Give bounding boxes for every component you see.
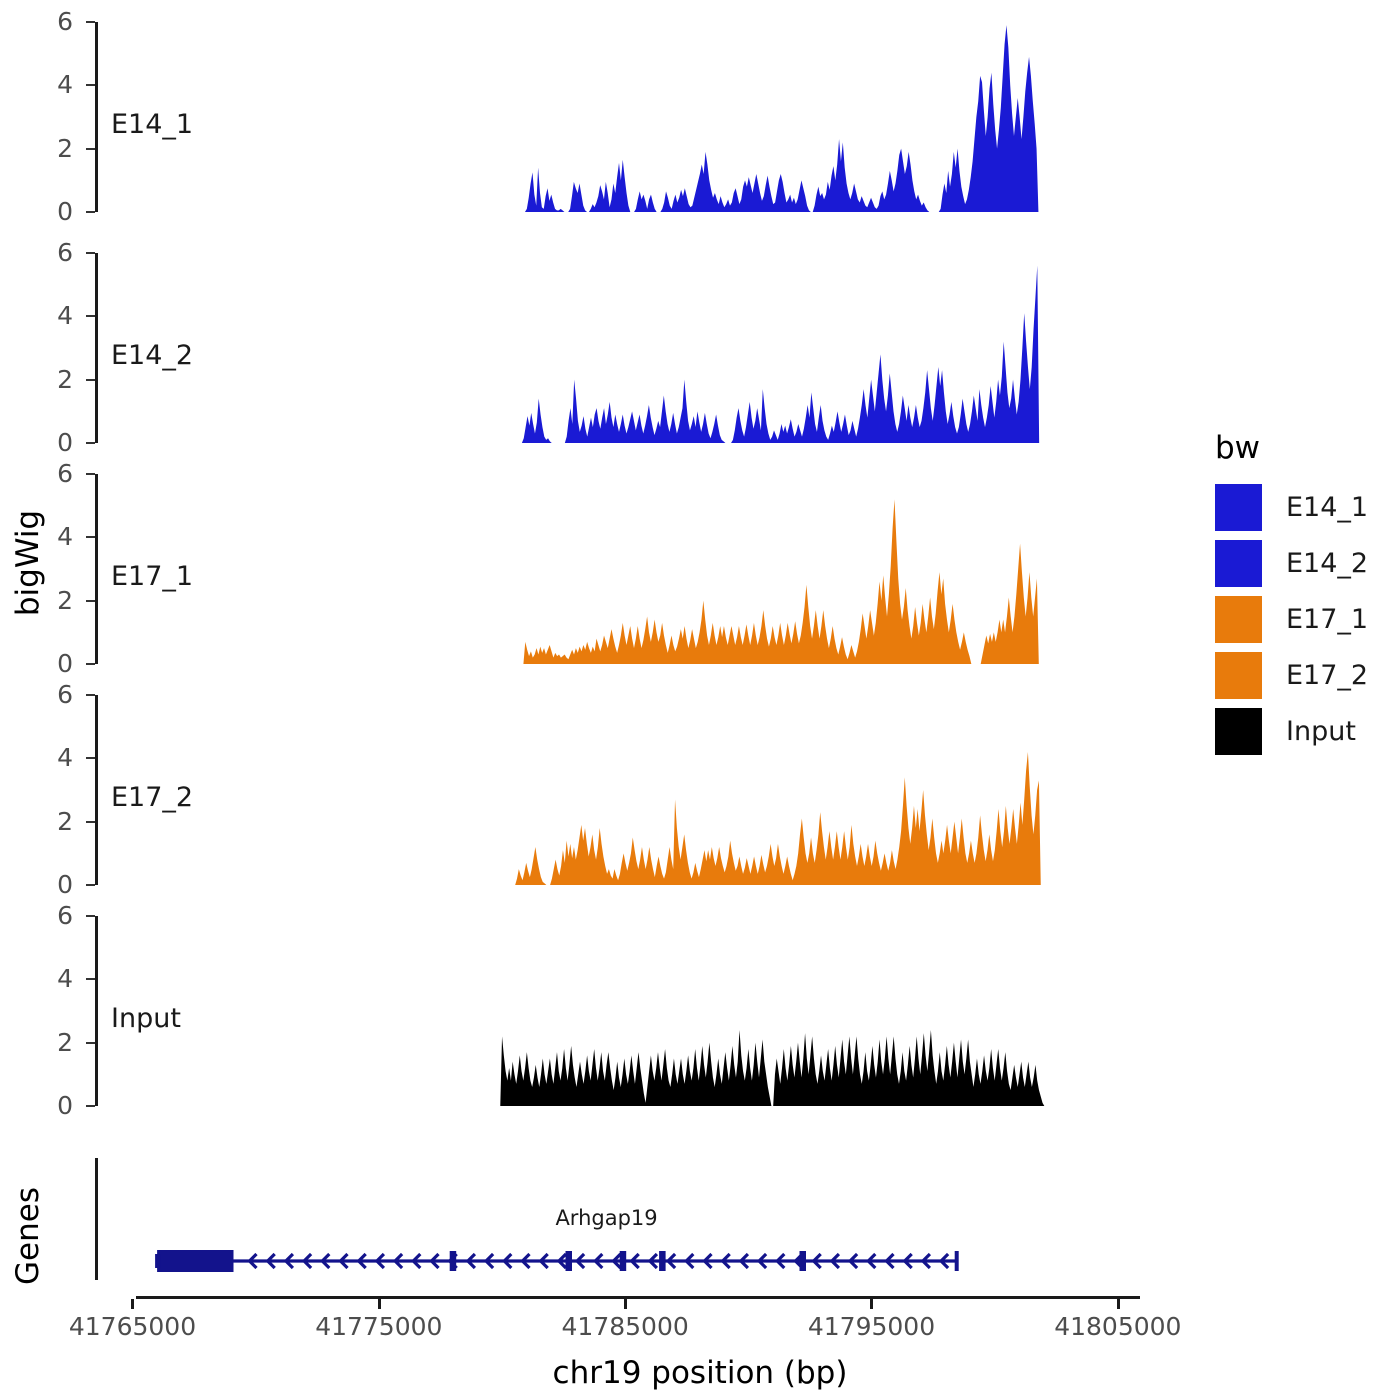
legend-item-label: E14_2 [1286, 548, 1368, 579]
y-tick-label: 2 [15, 136, 73, 161]
y-tick-mark [86, 694, 95, 696]
x-tick-label: 41775000 [279, 1314, 479, 1339]
legend-item-label: E17_1 [1286, 604, 1368, 635]
y-tick-mark [86, 442, 95, 444]
y-tick-mark [86, 148, 95, 150]
x-tick-mark [1117, 1299, 1120, 1309]
y-tick-label: 2 [15, 588, 73, 613]
y-tick-mark [86, 978, 95, 980]
legend-item-e17_1[interactable]: E17_1 [1215, 596, 1368, 643]
y-tick-label: 6 [15, 240, 73, 265]
x-axis-title: chr19 position (bp) [0, 1355, 1400, 1391]
y-tick-mark [86, 315, 95, 317]
legend-item-e14_2[interactable]: E14_2 [1215, 540, 1368, 587]
x-tick-label: 41785000 [525, 1314, 725, 1339]
y-tick-label: 0 [15, 430, 73, 455]
y-tick-mark [86, 473, 95, 475]
figure-root: bigWig Genes 0246E14_10246E14_20246E17_1… [0, 0, 1400, 1400]
gene-label: Arhgap19 [555, 1206, 657, 1230]
y-tick-mark [86, 84, 95, 86]
y-tick-mark [86, 211, 95, 213]
y-tick-label: 2 [15, 1030, 73, 1055]
legend-color-swatch [1215, 652, 1262, 699]
y-tick-label: 4 [15, 72, 73, 97]
y-tick-label: 4 [15, 524, 73, 549]
x-tick-label: 41795000 [771, 1314, 971, 1339]
y-tick-mark [86, 663, 95, 665]
legend: bw E14_1E14_2E17_1E17_2Input [1215, 430, 1395, 720]
y-tick-label: 4 [15, 966, 73, 991]
track-area-e17_1 [98, 474, 1140, 664]
gene-model-arhgap19[interactable] [0, 1239, 1400, 1283]
legend-item-e14_1[interactable]: E14_1 [1215, 484, 1368, 531]
legend-item-e17_2[interactable]: E17_2 [1215, 652, 1368, 699]
y-tick-mark [86, 884, 95, 886]
legend-color-swatch [1215, 596, 1262, 643]
y-tick-mark [86, 757, 95, 759]
y-tick-mark [86, 600, 95, 602]
y-tick-mark [86, 1042, 95, 1044]
y-tick-mark [86, 21, 95, 23]
y-tick-label: 6 [15, 9, 73, 34]
y-tick-label: 4 [15, 745, 73, 770]
y-tick-label: 0 [15, 199, 73, 224]
y-tick-label: 4 [15, 303, 73, 328]
y-tick-label: 6 [15, 682, 73, 707]
x-tick-label: 41805000 [1018, 1314, 1218, 1339]
y-tick-label: 0 [15, 872, 73, 897]
legend-color-swatch [1215, 484, 1262, 531]
y-tick-mark [86, 1105, 95, 1107]
y-tick-label: 6 [15, 903, 73, 928]
x-axis-line [136, 1296, 1140, 1299]
x-tick-mark [624, 1299, 627, 1309]
track-area-e14_2 [98, 253, 1140, 443]
y-tick-label: 0 [15, 1093, 73, 1118]
legend-item-label: E14_1 [1286, 492, 1368, 523]
x-tick-mark [131, 1299, 134, 1309]
legend-item-input[interactable]: Input [1215, 708, 1356, 755]
y-tick-label: 0 [15, 651, 73, 676]
legend-color-swatch [1215, 540, 1262, 587]
legend-item-label: E17_2 [1286, 660, 1368, 691]
y-tick-mark [86, 821, 95, 823]
track-area-e14_1 [98, 22, 1140, 212]
y-tick-mark [86, 252, 95, 254]
track-area-e17_2 [98, 695, 1140, 885]
y-tick-label: 6 [15, 461, 73, 486]
y-tick-mark [86, 536, 95, 538]
y-tick-mark [86, 915, 95, 917]
genes-panel-label: Genes [10, 1166, 46, 1306]
y-tick-mark [86, 379, 95, 381]
legend-item-label: Input [1286, 716, 1356, 747]
track-area-input [98, 916, 1140, 1106]
x-tick-mark [378, 1299, 381, 1309]
x-tick-mark [870, 1299, 873, 1309]
y-axis-label: bigWig [10, 483, 46, 643]
legend-color-swatch [1215, 708, 1262, 755]
legend-title: bw [1215, 430, 1260, 466]
y-tick-label: 2 [15, 367, 73, 392]
y-tick-label: 2 [15, 809, 73, 834]
x-tick-label: 41765000 [32, 1314, 232, 1339]
